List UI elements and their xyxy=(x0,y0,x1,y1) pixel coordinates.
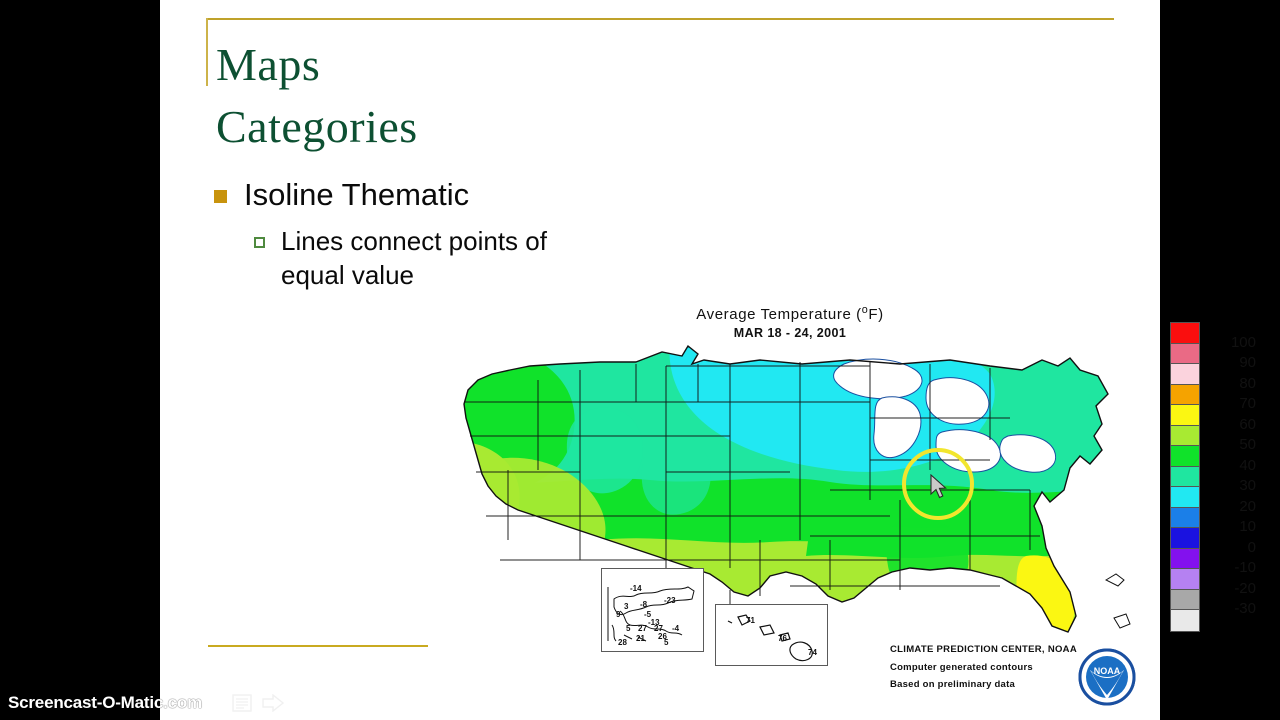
svg-text:21: 21 xyxy=(636,634,645,643)
map-title-text: Average Temperature ( xyxy=(696,306,861,323)
svg-text:5: 5 xyxy=(664,638,669,647)
top-gold-rule xyxy=(206,18,1114,20)
svg-text:27: 27 xyxy=(638,624,647,633)
legend-swatch xyxy=(1171,610,1199,631)
sub-bullet-square-icon xyxy=(254,237,265,248)
legend-swatch xyxy=(1171,364,1199,385)
svg-text:28: 28 xyxy=(618,638,627,647)
legend-label: -20 xyxy=(1208,580,1256,597)
map-title-tail: F) xyxy=(868,306,883,323)
legend-swatch xyxy=(1171,528,1199,549)
legend-label: 20 xyxy=(1208,498,1256,515)
svg-text:74: 74 xyxy=(808,648,817,657)
bullet-level1-label: Isoline Thematic xyxy=(244,176,469,215)
legend-label: 0 xyxy=(1208,539,1256,556)
legend-label: 90 xyxy=(1208,354,1256,371)
svg-text:-14: -14 xyxy=(630,584,642,593)
legend-swatch xyxy=(1171,426,1199,447)
legend-swatch xyxy=(1171,467,1199,488)
legend-swatch xyxy=(1171,446,1199,467)
legend-label: -30 xyxy=(1208,600,1256,617)
page-title: Maps Categories xyxy=(216,34,736,157)
legend-label: 40 xyxy=(1208,457,1256,474)
svg-text:5: 5 xyxy=(626,624,631,633)
top-gold-rule-stub xyxy=(206,18,208,86)
title-line-2: Categories xyxy=(216,96,736,158)
bullet-level2-label: Lines connect points of equal value xyxy=(281,224,611,293)
legend-label: 30 xyxy=(1208,477,1256,494)
noaa-logo-icon: NOAA xyxy=(1078,648,1136,706)
legend-swatch xyxy=(1171,487,1199,508)
svg-text:-8: -8 xyxy=(640,600,648,609)
svg-text:71: 71 xyxy=(746,616,755,625)
next-slide-icon[interactable] xyxy=(262,694,284,712)
legend-swatch xyxy=(1171,508,1199,529)
noaa-seal-label: NOAA xyxy=(1094,666,1121,676)
letterbox-left xyxy=(0,0,160,720)
legend-label: 50 xyxy=(1208,436,1256,453)
bullet-level2: Lines connect points of equal value xyxy=(254,224,611,293)
legend-color-strip xyxy=(1170,322,1200,632)
credit-line-2: Computer generated contours xyxy=(890,659,1077,677)
legend-label: 60 xyxy=(1208,416,1256,433)
credit-line-3: Based on preliminary data xyxy=(890,676,1077,694)
legend-swatch xyxy=(1171,323,1199,344)
legend-label: -10 xyxy=(1208,559,1256,576)
legend-label: 80 xyxy=(1208,375,1256,392)
svg-text:9: 9 xyxy=(616,610,621,619)
mouse-cursor xyxy=(930,474,948,500)
svg-text:-23: -23 xyxy=(664,596,676,605)
legend-swatch xyxy=(1171,549,1199,570)
legend-label: 70 xyxy=(1208,395,1256,412)
hawaii-inset: 71 76 74 xyxy=(715,604,828,666)
svg-text:-4: -4 xyxy=(672,624,680,633)
map-title: Average Temperature (oF) xyxy=(630,304,950,323)
title-line-1: Maps xyxy=(216,34,736,96)
svg-text:76: 76 xyxy=(778,634,787,643)
legend-swatch xyxy=(1171,569,1199,590)
presentation-slide: Maps Categories Isoline Thematic Lines c… xyxy=(160,0,1160,720)
menu-icon[interactable] xyxy=(232,694,252,712)
map-credits: CLIMATE PREDICTION CENTER, NOAA Computer… xyxy=(890,641,1077,694)
screen: Maps Categories Isoline Thematic Lines c… xyxy=(0,0,1280,720)
legend-swatch xyxy=(1171,405,1199,426)
temperature-map-image: Average Temperature (oF) MAR 18 - 24, 20… xyxy=(430,300,1150,700)
legend-label: 100 xyxy=(1208,334,1256,351)
screencast-watermark: Screencast-O-Matic.com xyxy=(8,693,202,713)
legend-swatch xyxy=(1171,385,1199,406)
svg-text:3: 3 xyxy=(624,602,629,611)
alaska-inset: -14 -23 3 -8 -5 -13 9 5 27 27 -4 26 21 2… xyxy=(601,568,704,652)
map-subtitle: MAR 18 - 24, 2001 xyxy=(630,326,950,340)
legend-swatch xyxy=(1171,590,1199,611)
bottom-gold-rule xyxy=(208,645,428,647)
legend-label: 10 xyxy=(1208,518,1256,535)
bullet-level1: Isoline Thematic xyxy=(214,176,469,215)
bullet-square-icon xyxy=(214,190,227,203)
credit-line-1: CLIMATE PREDICTION CENTER, NOAA xyxy=(890,641,1077,659)
legend-swatch xyxy=(1171,344,1199,365)
